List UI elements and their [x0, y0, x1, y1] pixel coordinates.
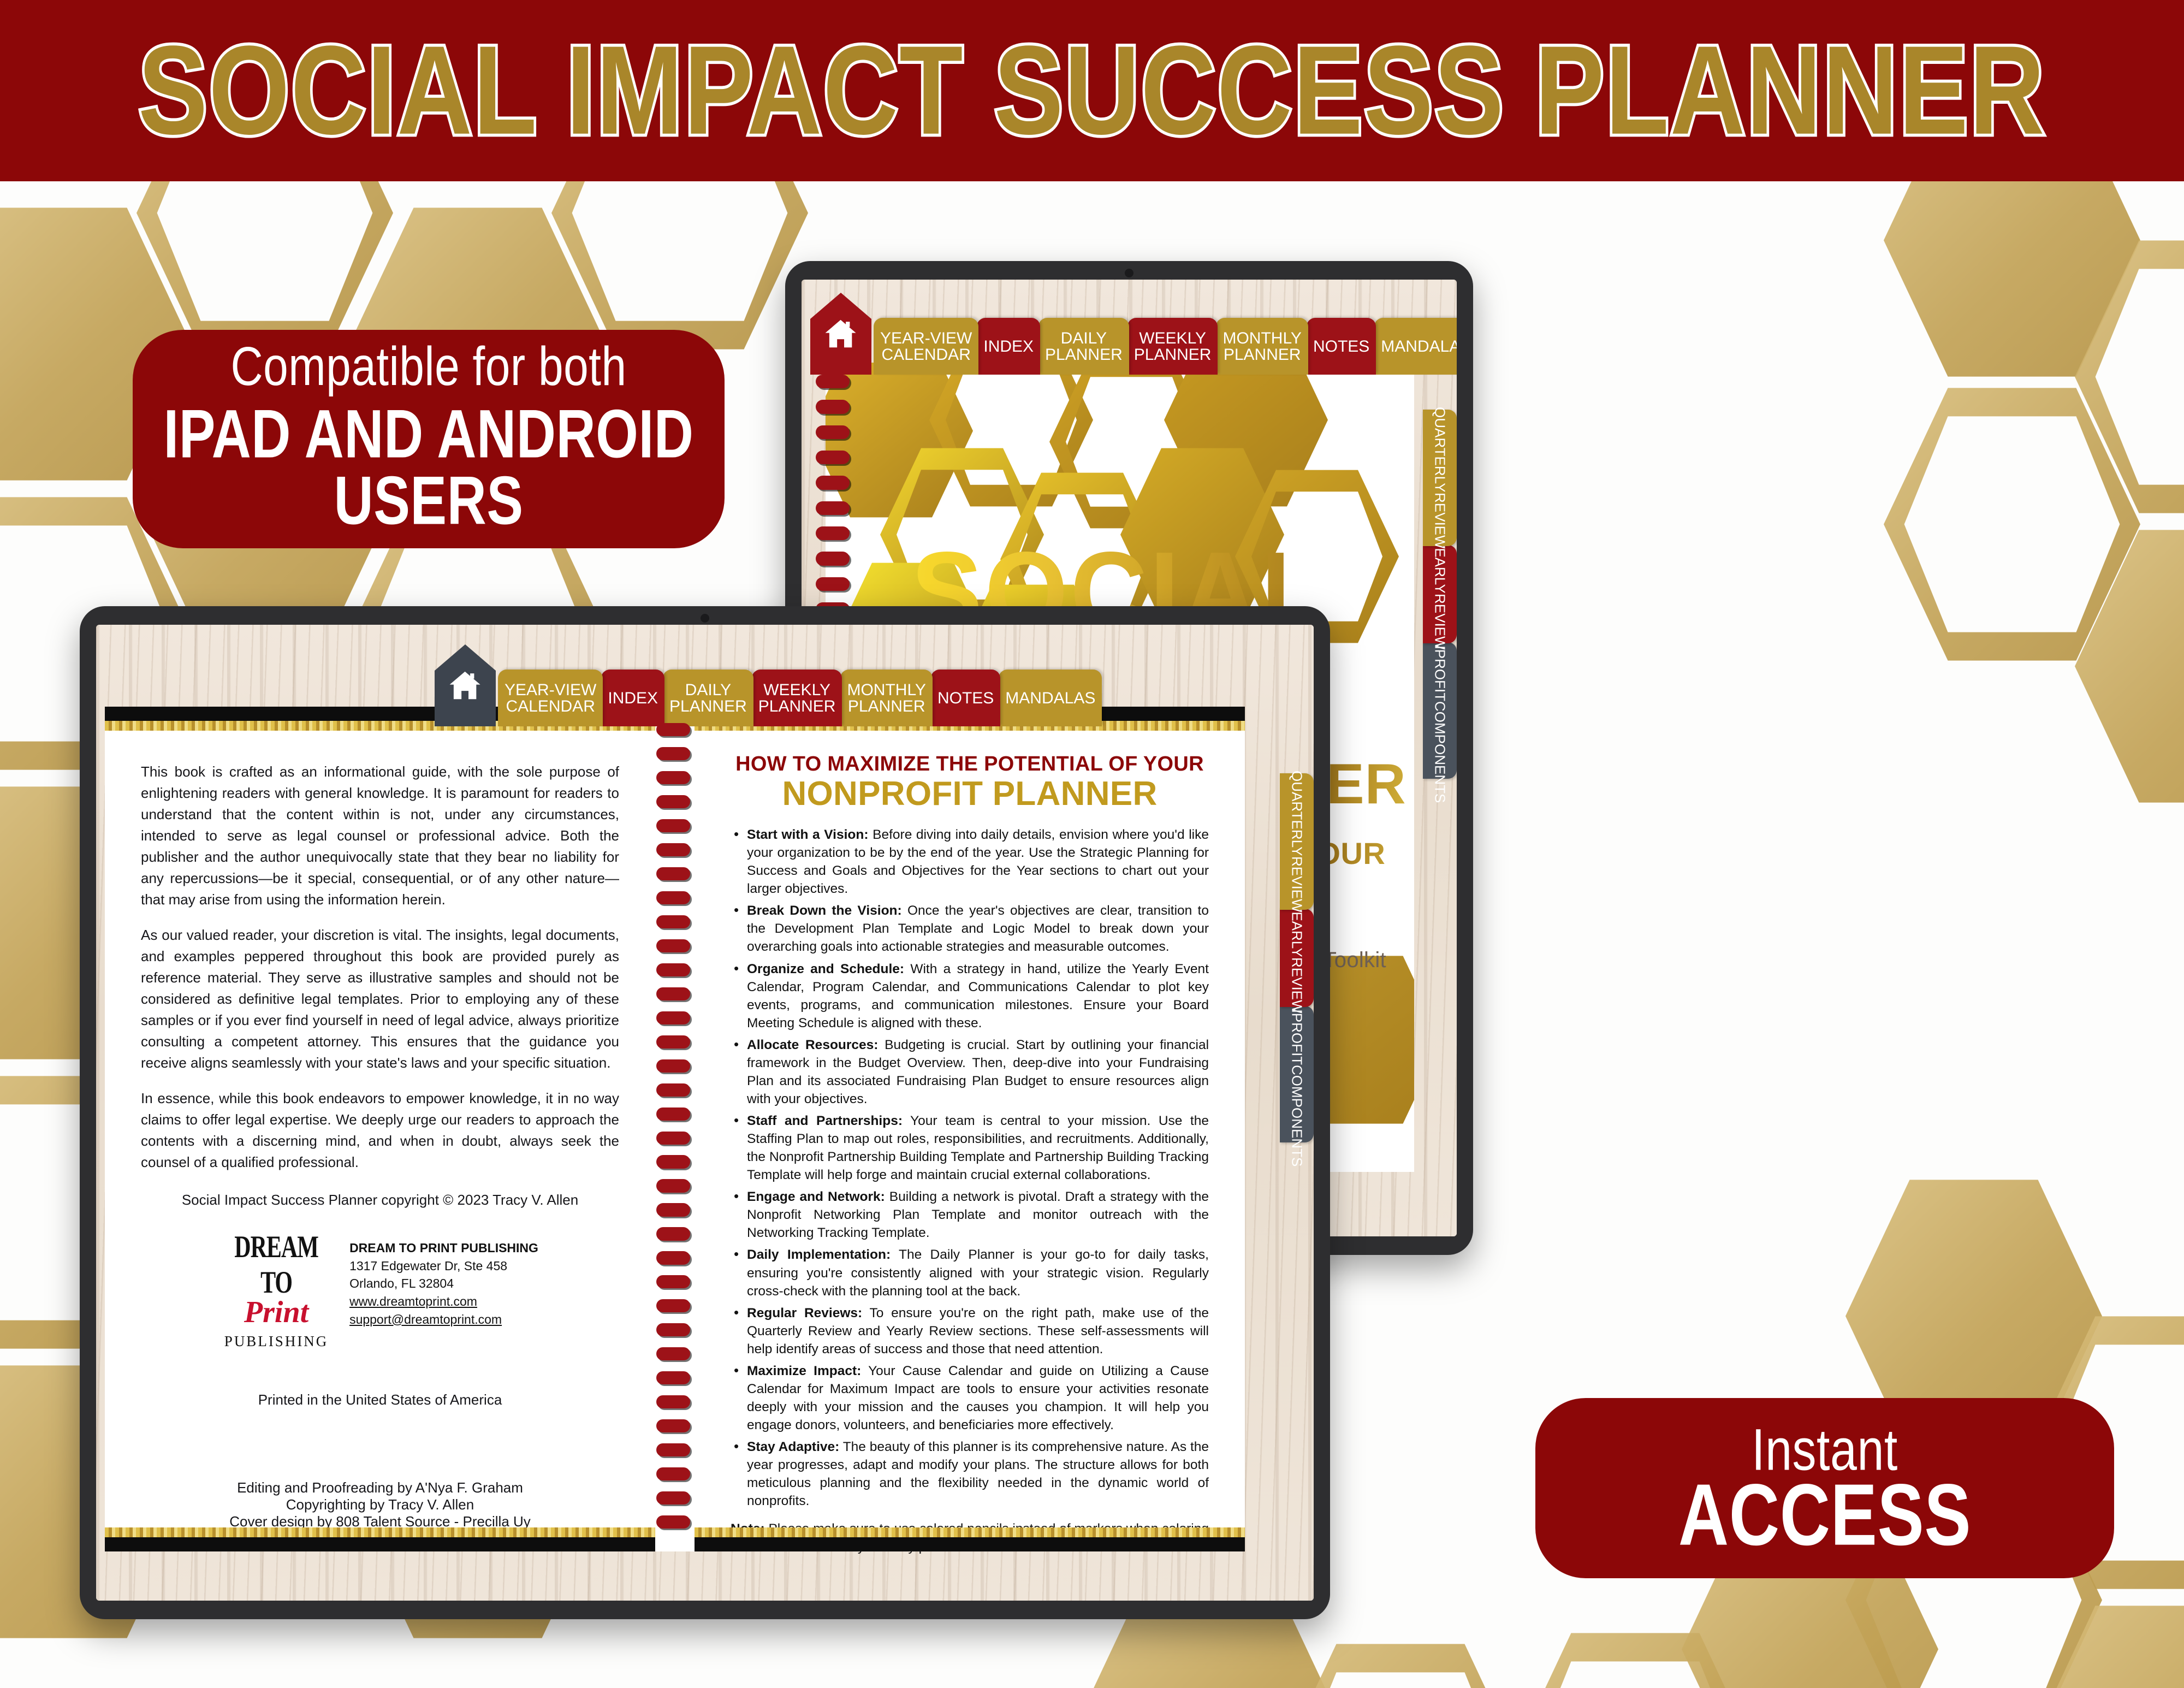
planner-tab-year-view[interactable]: YEAR-VIEWCALENDAR: [498, 670, 603, 726]
spiral-ring: [656, 963, 690, 976]
spiral-ring: [816, 451, 850, 464]
side-tab-line2: COMPONENTS: [1433, 701, 1447, 803]
planner-side-tab-yearly[interactable]: YEARLYREVIEW: [1423, 545, 1457, 643]
spiral-ring: [656, 939, 690, 952]
planner-home-tab[interactable]: [810, 293, 871, 375]
tab-label-line2: PLANNER: [669, 698, 747, 715]
side-tab-line2: REVIEW: [1433, 493, 1447, 549]
publisher-address-1: 1317 Edgewater Dr, Ste 458: [349, 1257, 538, 1275]
page-bottom-gold-band: [105, 1527, 655, 1537]
tab-label-line1: NOTES: [1313, 339, 1369, 355]
spiral-ring: [816, 425, 850, 439]
credit-line: Copyrighting by Tracy V. Allen: [141, 1496, 619, 1513]
compatibility-badge-line3: USERS: [334, 459, 523, 543]
spiral-ring: [656, 843, 690, 856]
tab-label-line1: WEEKLY: [1139, 330, 1206, 347]
spiral-ring: [656, 1515, 690, 1529]
tip-term: Organize and Schedule:: [747, 962, 904, 976]
compatibility-badge-line1: Compatible for both: [230, 339, 626, 395]
page-title: SOCIAL IMPACT SUCCESS PLANNER: [138, 19, 2045, 163]
tab-label-line1: YEAR-VIEW: [880, 330, 972, 347]
spiral-ring: [816, 501, 850, 515]
spiral-ring: [656, 1371, 690, 1384]
publisher-address: DREAM TO PRINT PUBLISHING 1317 Edgewater…: [349, 1239, 538, 1328]
planner-side-tab-nonprofit[interactable]: NONPROFITCOMPONENTS: [1280, 1006, 1314, 1142]
spiral-ring: [656, 1443, 690, 1456]
spiral-ring: [656, 771, 690, 784]
disclaimer-paragraph: This book is crafted as an informational…: [141, 761, 619, 910]
tab-label-line2: PLANNER: [1224, 347, 1301, 363]
spiral-ring: [656, 1132, 690, 1145]
right-page-heading-main: NONPROFIT PLANNER: [731, 776, 1209, 812]
tip-term: Staff and Partnerships:: [747, 1114, 903, 1128]
planner-tab-daily[interactable]: DAILYPLANNER: [663, 670, 753, 726]
spiral-ring: [656, 1419, 690, 1432]
tab-label-line2: PLANNER: [1045, 347, 1123, 363]
camera-dot: [701, 614, 709, 623]
page-bottom-black-band: [695, 1537, 1245, 1551]
book-gutter: [655, 707, 695, 1551]
spiral-ring: [656, 1107, 690, 1121]
disclaimer-paragraph: As our valued reader, your discretion is…: [141, 925, 619, 1074]
spiral-ring: [816, 375, 850, 388]
planner-side-navigation[interactable]: QUARTERLYREVIEWYEARLYREVIEWNONPROFITCOMP…: [1423, 410, 1457, 778]
printed-in-line: Printed in the United States of America: [141, 1391, 619, 1408]
planner-side-tab-yearly[interactable]: YEARLYREVIEW: [1280, 909, 1314, 1007]
planner-tab-monthly[interactable]: MONTHLYPLANNER: [1216, 318, 1308, 375]
tab-label-line1: INDEX: [608, 690, 658, 707]
tab-label-line1: MONTHLY: [847, 682, 925, 698]
planner-tab-year-view[interactable]: YEAR-VIEWCALENDAR: [874, 318, 978, 375]
planner-side-navigation[interactable]: QUARTERLYREVIEWYEARLYREVIEWNONPROFITCOMP…: [1280, 773, 1314, 1141]
tip-term: Break Down the Vision:: [747, 903, 902, 918]
tip-term: Allocate Resources:: [747, 1038, 878, 1052]
copyright-line: Social Impact Success Planner copyright …: [141, 1192, 619, 1209]
spiral-ring: [816, 577, 850, 591]
tip-item: Daily Implementation: The Daily Planner …: [731, 1246, 1209, 1300]
publisher-block: DREAM TO Print PUBLISHING DREAM TO PRINT…: [141, 1239, 619, 1350]
tip-item: Engage and Network: Building a network i…: [731, 1188, 1209, 1242]
spiral-ring: [656, 891, 690, 904]
book-spread: This book is crafted as an informational…: [105, 707, 1245, 1551]
home-icon: [447, 661, 483, 710]
spiral-ring: [656, 1083, 690, 1097]
spiral-ring: [656, 1395, 690, 1408]
spiral-ring: [656, 747, 690, 760]
tablet-device-interior: YEAR-VIEWCALENDARINDEXDAILYPLANNERWEEKLY…: [80, 606, 1330, 1619]
planner-side-tab-nonprofit[interactable]: NONPROFITCOMPONENTS: [1423, 642, 1457, 779]
spiral-ring: [656, 1059, 690, 1073]
tip-item: Regular Reviews: To ensure you're on the…: [731, 1304, 1209, 1358]
tip-term: Daily Implementation:: [747, 1247, 891, 1262]
logo-line-top: DREAM TO: [222, 1230, 331, 1301]
spiral-ring: [656, 1251, 690, 1264]
publisher-website-link[interactable]: www.dreamtoprint.com: [349, 1293, 538, 1311]
planner-tab-index[interactable]: INDEX: [601, 670, 664, 726]
spiral-ring: [656, 1011, 690, 1024]
tip-item: Organize and Schedule: With a strategy i…: [731, 960, 1209, 1032]
spiral-ring: [656, 1275, 690, 1288]
disclaimer-text: This book is crafted as an informational…: [141, 761, 619, 1173]
spiral-ring: [656, 987, 690, 1000]
planner-tab-notes[interactable]: NOTES: [1307, 318, 1376, 375]
spiral-ring: [656, 1491, 690, 1505]
spiral-ring: [656, 1227, 690, 1240]
tip-term: Start with a Vision:: [747, 827, 869, 842]
planner-top-navigation[interactable]: YEAR-VIEWCALENDARINDEXDAILYPLANNERWEEKLY…: [810, 293, 1457, 375]
camera-dot: [1125, 269, 1133, 277]
planner-top-navigation[interactable]: YEAR-VIEWCALENDARINDEXDAILYPLANNERWEEKLY…: [435, 644, 1100, 726]
planner-tab-weekly[interactable]: WEEKLYPLANNER: [1127, 318, 1218, 375]
side-tab-line2: REVIEW: [1433, 594, 1447, 650]
tab-label-line1: INDEX: [983, 339, 1034, 355]
instant-access-line2: ACCESS: [1678, 1471, 1971, 1560]
book-left-page: This book is crafted as an informational…: [105, 707, 655, 1551]
spiral-ring: [656, 1467, 690, 1480]
publisher-address-2: Orlando, FL 32804: [349, 1275, 538, 1293]
tab-label-line2: PLANNER: [758, 698, 836, 715]
spiral-ring: [656, 867, 690, 880]
instant-access-badge: Instant ACCESS: [1535, 1398, 2114, 1578]
spiral-ring: [816, 400, 850, 413]
spiral-ring: [656, 1347, 690, 1360]
planner-tab-weekly[interactable]: WEEKLYPLANNER: [752, 670, 842, 726]
tab-label-line1: WEEKLY: [763, 682, 830, 698]
tip-term: Regular Reviews:: [747, 1306, 862, 1320]
side-tab-line2: REVIEW: [1290, 856, 1304, 913]
credit-line: Editing and Proofreading by A'Nya F. Gra…: [141, 1479, 619, 1496]
header-banner: SOCIAL IMPACT SUCCESS PLANNER: [0, 0, 2184, 181]
spiral-ring: [816, 552, 850, 565]
spiral-ring: [816, 476, 850, 489]
tip-term: Stay Adaptive:: [747, 1440, 839, 1454]
tablet-screen-interior: YEAR-VIEWCALENDARINDEXDAILYPLANNERWEEKLY…: [96, 625, 1314, 1601]
dream-to-print-logo: DREAM TO Print PUBLISHING: [222, 1239, 331, 1350]
spiral-ring: [656, 1323, 690, 1336]
planner-tab-monthly[interactable]: MONTHLYPLANNER: [840, 670, 932, 726]
tips-list: Start with a Vision: Before diving into …: [731, 826, 1209, 1510]
side-tab-line1: QUARTERLY: [1290, 771, 1304, 856]
page-bottom-black-band: [105, 1537, 655, 1551]
side-tab-line1: QUARTERLY: [1433, 407, 1447, 493]
tab-label-line2: CALENDAR: [506, 698, 595, 715]
logo-line-bottom: PUBLISHING: [222, 1333, 331, 1350]
spiral-ring: [656, 1155, 690, 1168]
tip-item: Maximize Impact: Your Cause Calendar and…: [731, 1362, 1209, 1434]
tab-label-line2: PLANNER: [848, 698, 925, 715]
tab-label-line1: NOTES: [937, 690, 994, 707]
right-page-heading-top: HOW TO MAXIMIZE THE POTENTIAL OF YOUR: [731, 753, 1209, 776]
planner-tab-daily[interactable]: DAILYPLANNER: [1038, 318, 1129, 375]
tip-item: Staff and Partnerships: Your team is cen…: [731, 1112, 1209, 1184]
compatibility-badge: Compatible for both IPAD AND ANDROID USE…: [133, 330, 725, 548]
disclaimer-paragraph: In essence, while this book endeavors to…: [141, 1088, 619, 1173]
publisher-email-link[interactable]: support@dreamtoprint.com: [349, 1311, 538, 1329]
spiral-ring: [656, 819, 690, 832]
spiral-ring: [656, 1179, 690, 1192]
tab-label-line1: YEAR-VIEW: [505, 682, 596, 698]
spiral-binding: [656, 721, 692, 1537]
tip-item: Stay Adaptive: The beauty of this planne…: [731, 1438, 1209, 1510]
book-right-page: HOW TO MAXIMIZE THE POTENTIAL OF YOUR NO…: [695, 707, 1245, 1551]
tab-label-line1: DAILY: [685, 682, 731, 698]
tab-label-line2: CALENDAR: [881, 347, 970, 363]
planner-side-tab-quarterly[interactable]: QUARTERLYREVIEW: [1423, 410, 1457, 546]
tip-item: Allocate Resources: Budgeting is crucial…: [731, 1036, 1209, 1108]
tab-label-line1: MANDALAS: [1381, 339, 1457, 355]
spiral-ring: [656, 795, 690, 808]
spiral-ring: [656, 915, 690, 928]
tab-label-line1: MONTHLY: [1222, 330, 1301, 347]
planner-tab-mandalas[interactable]: MANDALAS: [999, 670, 1102, 726]
tab-label-line1: MANDALAS: [1005, 690, 1095, 707]
spiral-ring: [816, 526, 850, 540]
tip-item: Break Down the Vision: Once the year's o…: [731, 902, 1209, 956]
tip-term: Engage and Network:: [747, 1189, 885, 1204]
spiral-ring: [656, 723, 690, 736]
tab-label-line1: DAILY: [1061, 330, 1107, 347]
spiral-ring: [656, 1299, 690, 1312]
planner-tab-notes[interactable]: NOTES: [931, 670, 1000, 726]
tip-term: Maximize Impact:: [747, 1364, 861, 1378]
home-icon: [822, 309, 859, 358]
planner-tab-mandalas[interactable]: MANDALAS: [1374, 318, 1457, 375]
page-bottom-gold-band: [695, 1527, 1245, 1537]
planner-tab-index[interactable]: INDEX: [977, 318, 1040, 375]
spiral-ring: [656, 1203, 690, 1216]
tab-label-line2: PLANNER: [1134, 347, 1212, 363]
side-tab-line2: COMPONENTS: [1290, 1065, 1304, 1166]
publisher-name: DREAM TO PRINT PUBLISHING: [349, 1239, 538, 1257]
spiral-ring: [656, 1035, 690, 1049]
side-tab-line2: REVIEW: [1290, 957, 1304, 1014]
planner-side-tab-quarterly[interactable]: QUARTERLYREVIEW: [1280, 773, 1314, 910]
tip-item: Start with a Vision: Before diving into …: [731, 826, 1209, 898]
planner-home-tab[interactable]: [435, 644, 496, 726]
